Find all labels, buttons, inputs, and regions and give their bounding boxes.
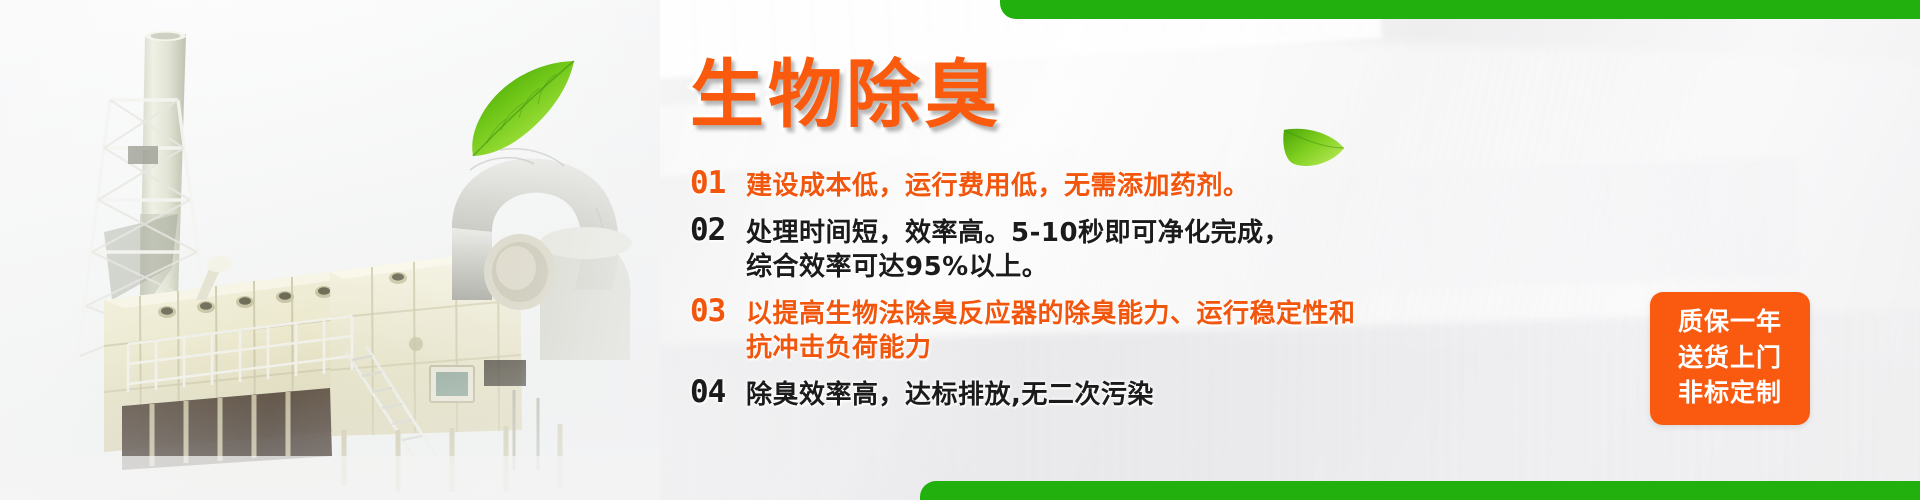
list-item-number: 03 [690, 294, 746, 330]
list-item-text: 以提高生物法除臭反应器的除臭能力、运行稳定性和 抗冲击负荷能力 [746, 294, 1356, 366]
promo-banner: 生物除臭 01 建设成本低，运行费用低，无需添加药剂。 02 处理时间短，效率高… [0, 0, 1920, 500]
list-item-number: 01 [690, 166, 746, 202]
list-item-text: 处理时间短，效率高。5-10秒即可净化完成， 综合效率可达95%以上。 [746, 213, 1290, 285]
list-item-number: 04 [690, 375, 746, 411]
banner-content: 生物除臭 01 建设成本低，运行费用低，无需添加药剂。 02 处理时间短，效率高… [676, 0, 1636, 500]
list-item: 04 除臭效率高，达标排放,无二次污染 [690, 375, 1630, 413]
list-item: 02 处理时间短，效率高。5-10秒即可净化完成， 综合效率可达95%以上。 [690, 213, 1630, 285]
guarantee-badge-line: 质保一年 [1660, 304, 1800, 340]
guarantee-badge-line: 送货上门 [1660, 340, 1800, 376]
list-item-text: 除臭效率高，达标排放,无二次污染 [746, 375, 1154, 413]
leaf-icon [470, 58, 582, 167]
list-item: 01 建设成本低，运行费用低，无需添加药剂。 [690, 166, 1630, 204]
list-item: 03 以提高生物法除臭反应器的除臭能力、运行稳定性和 抗冲击负荷能力 [690, 294, 1630, 366]
guarantee-badge-line: 非标定制 [1660, 375, 1800, 411]
list-item-text: 建设成本低，运行费用低，无需添加药剂。 [746, 166, 1250, 204]
list-item-number: 02 [690, 213, 746, 249]
page-title: 生物除臭 [690, 58, 1002, 132]
guarantee-badge[interactable]: 质保一年 送货上门 非标定制 [1650, 292, 1810, 425]
feature-list: 01 建设成本低，运行费用低，无需添加药剂。 02 处理时间短，效率高。5-10… [690, 166, 1630, 421]
